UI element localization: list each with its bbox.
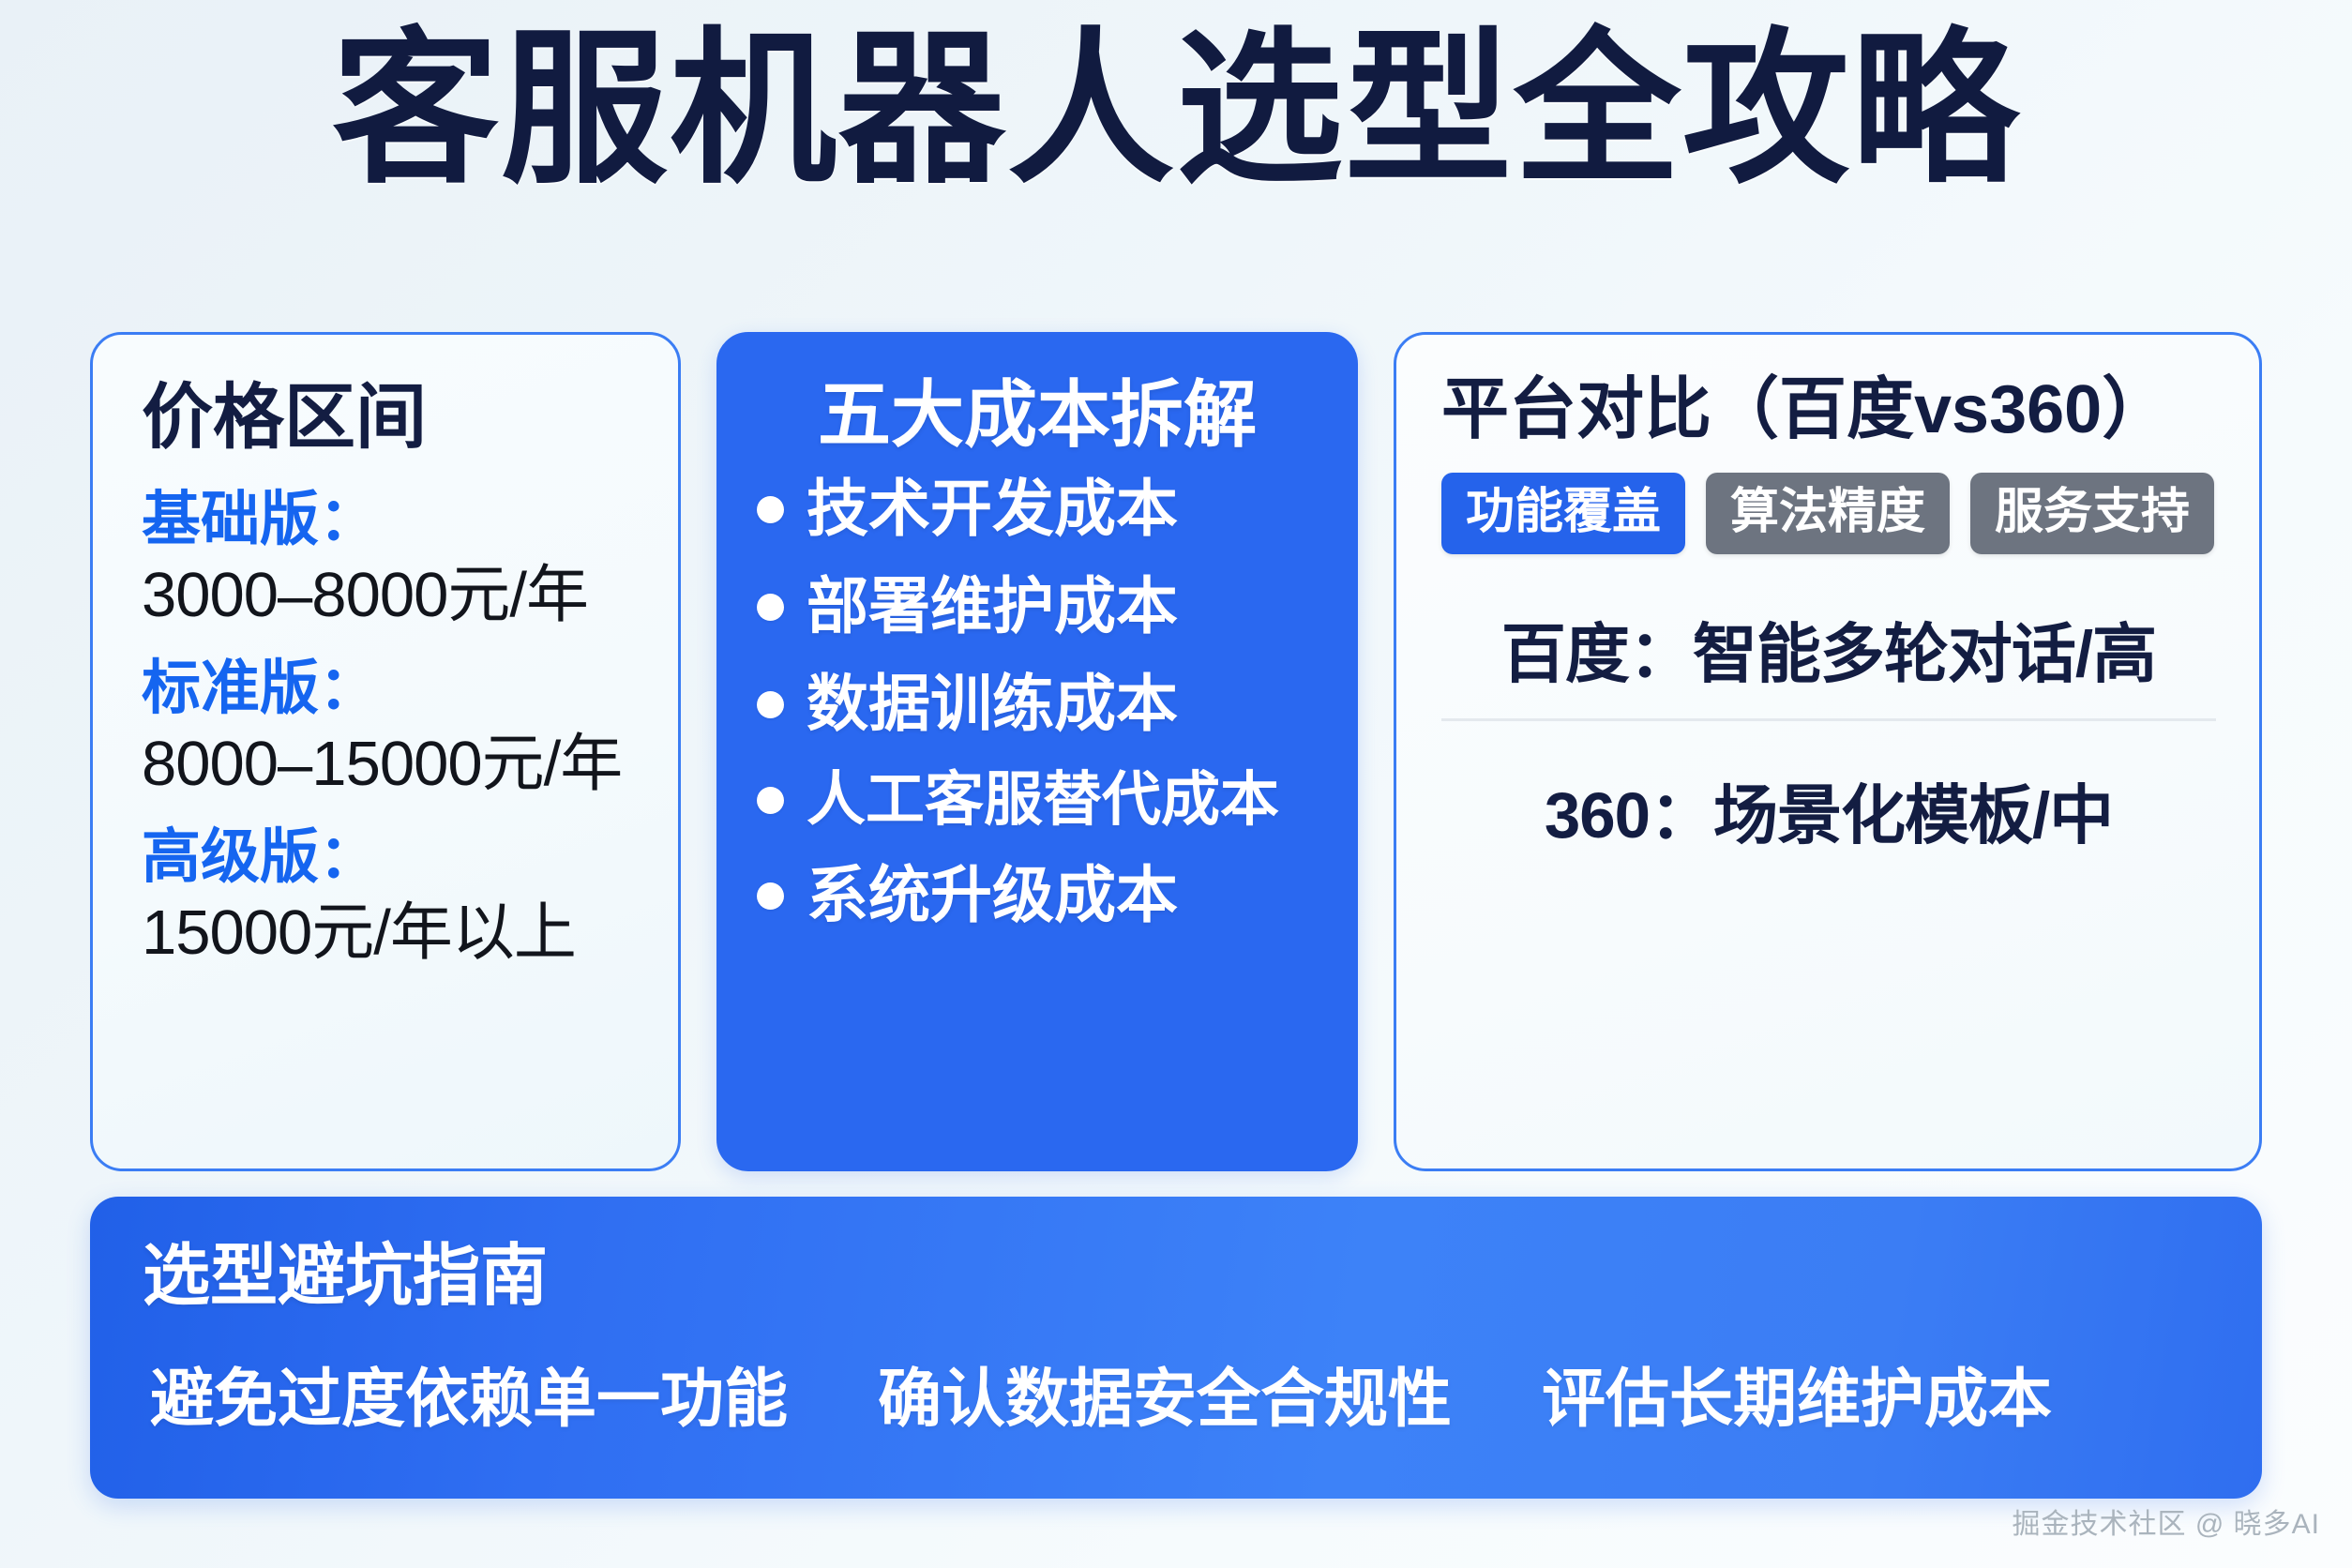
list-item: 人工客服替代成本 bbox=[757, 765, 1318, 835]
pitfall-tip-row: 避免过度依赖单一功能 确认数据安全合规性 评估长期维护成本 bbox=[143, 1363, 2209, 1436]
list-item: 数据训练成本 bbox=[757, 668, 1318, 741]
pitfall-tip: 避免过度依赖单一功能 bbox=[150, 1363, 788, 1436]
cost-breakdown-heading: 五大成本拆解 bbox=[757, 374, 1318, 456]
price-range-heading: 价格区间 bbox=[142, 378, 633, 458]
infographic-poster: 客服机器人选型全攻略 价格区间 基础版： 3000–8000元/年 标准版： 8… bbox=[0, 0, 2352, 1568]
pitfall-tip: 评估长期维护成本 bbox=[1542, 1363, 2052, 1436]
pitfall-tip: 确认数据安全合规性 bbox=[878, 1363, 1452, 1436]
price-tier-label: 基础版： bbox=[142, 484, 633, 556]
bullet-dot-icon bbox=[757, 496, 784, 523]
price-tier-label: 标准版： bbox=[142, 653, 633, 725]
cost-item-label: 系统升级成本 bbox=[807, 859, 1178, 932]
tab-feature-coverage[interactable]: 功能覆盖 bbox=[1441, 473, 1685, 554]
comparison-row-360: 360：场景化模板/中 bbox=[1441, 721, 2216, 855]
price-tier-value: 3000–8000元/年 bbox=[142, 556, 633, 634]
price-tier-label: 高级版： bbox=[142, 822, 633, 894]
cost-item-label: 数据训练成本 bbox=[807, 668, 1178, 741]
cost-item-label: 部署维护成本 bbox=[807, 570, 1178, 643]
platform-comparison-heading: 平台对比（百度vs360） bbox=[1441, 372, 2216, 448]
price-tier: 高级版： 15000元/年以上 bbox=[142, 822, 633, 972]
cost-breakdown-card: 五大成本拆解 技术开发成本 部署维护成本 数据训练成本 人工客服替代成本 bbox=[716, 332, 1358, 1171]
watermark: 掘金技术社区 @ 晓多AI bbox=[2013, 1500, 2320, 1542]
pitfall-guide-heading: 选型避坑指南 bbox=[143, 1240, 2209, 1314]
list-item: 技术开发成本 bbox=[757, 473, 1318, 546]
price-tier-value: 8000–15000元/年 bbox=[142, 725, 633, 803]
cost-item-label: 人工客服替代成本 bbox=[807, 765, 1279, 835]
list-item: 系统升级成本 bbox=[757, 859, 1318, 932]
price-tier-value: 15000元/年以上 bbox=[142, 894, 633, 972]
price-tier: 基础版： 3000–8000元/年 bbox=[142, 484, 633, 634]
cost-item-label: 技术开发成本 bbox=[807, 473, 1178, 546]
platform-comparison-card: 平台对比（百度vs360） 功能覆盖 算法精度 服务支持 百度：智能多轮对话/高… bbox=[1394, 332, 2262, 1171]
price-tier: 标准版： 8000–15000元/年 bbox=[142, 653, 633, 803]
tab-algorithm-accuracy[interactable]: 算法精度 bbox=[1706, 473, 1950, 554]
comparison-body: 百度：智能多轮对话/高 360：场景化模板/中 bbox=[1441, 607, 2216, 855]
tab-service-support[interactable]: 服务支持 bbox=[1970, 473, 2214, 554]
bullet-dot-icon bbox=[757, 787, 784, 814]
bullet-dot-icon bbox=[757, 691, 784, 718]
pitfall-guide-banner: 选型避坑指南 避免过度依赖单一功能 确认数据安全合规性 评估长期维护成本 bbox=[90, 1197, 2262, 1499]
cost-item-list: 技术开发成本 部署维护成本 数据训练成本 人工客服替代成本 系统升级成本 bbox=[757, 473, 1318, 932]
comparison-tab-row: 功能覆盖 算法精度 服务支持 bbox=[1441, 473, 2216, 554]
cards-row: 价格区间 基础版： 3000–8000元/年 标准版： 8000–15000元/… bbox=[90, 332, 2262, 1171]
list-item: 部署维护成本 bbox=[757, 570, 1318, 643]
comparison-row-baidu: 百度：智能多轮对话/高 bbox=[1441, 607, 2216, 718]
price-tier-list: 基础版： 3000–8000元/年 标准版： 8000–15000元/年 高级版… bbox=[142, 484, 633, 972]
bullet-dot-icon bbox=[757, 594, 784, 621]
price-range-card: 价格区间 基础版： 3000–8000元/年 标准版： 8000–15000元/… bbox=[90, 332, 681, 1171]
bullet-dot-icon bbox=[757, 882, 784, 910]
page-title: 客服机器人选型全攻略 bbox=[0, 24, 2352, 195]
